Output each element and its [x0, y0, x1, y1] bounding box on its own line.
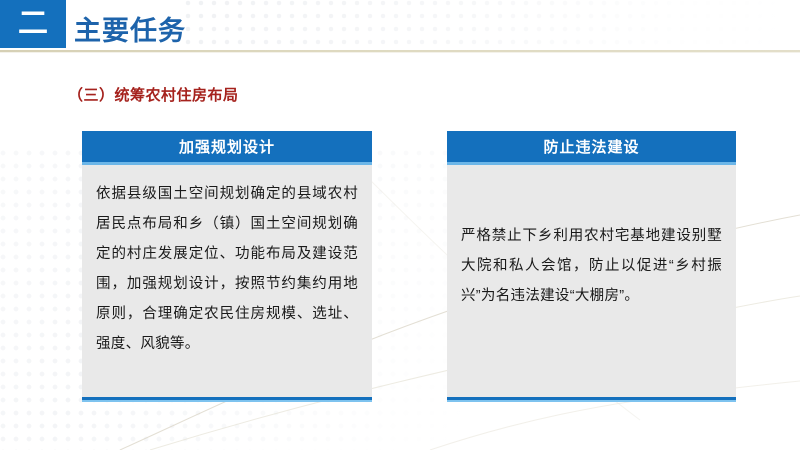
dot-pattern-top-fade: [185, 0, 800, 48]
card-body-text: 严格禁止下乡利用农村宅基地建设别墅大院和私人会馆，防止以促进“乡村振兴”为名违法…: [447, 165, 736, 397]
card-body-text: 依据县级国土空间规划确定的县域农村居民点布局和乡（镇）国土空间规划确定的村庄发展…: [82, 165, 372, 397]
section-title: （三）统筹农村住房布局: [68, 84, 239, 105]
content-card-planning-design: 加强规划设计 依据县级国土空间规划确定的县域农村居民点布局和乡（镇）国土空间规划…: [82, 131, 372, 402]
header-divider-highlight: [0, 52, 800, 53]
page-title: 主要任务: [74, 9, 186, 48]
card-bottom-accent: [447, 397, 736, 402]
card-heading: 防止违法建设: [447, 131, 736, 165]
slide-canvas: 二 主要任务 （三）统筹农村住房布局 加强规划设计 依据县级国土空间规划确定的县…: [0, 0, 800, 450]
dot-pattern-top-icon: [185, 0, 800, 48]
header-number-badge: 二: [0, 0, 66, 48]
header-number-glyph: 二: [0, 0, 66, 48]
card-bottom-accent: [82, 397, 372, 402]
content-card-prevent-illegal-construction: 防止违法建设 严格禁止下乡利用农村宅基地建设别墅大院和私人会馆，防止以促进“乡村…: [447, 131, 736, 402]
card-heading: 加强规划设计: [82, 131, 372, 165]
